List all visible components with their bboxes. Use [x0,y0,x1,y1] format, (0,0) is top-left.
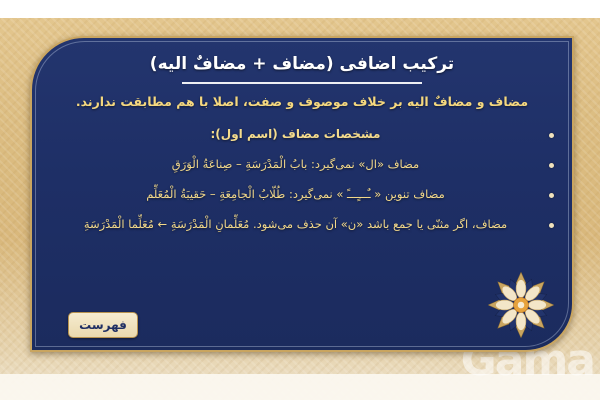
list-item: مضاف «ال» نمی‌گیرد: بابُ الْمَدْرَسَةِ –… [50,156,554,173]
bullet-dot-icon [549,133,554,138]
index-button-label: فهرست [79,318,127,332]
bullet-list: مشخصات مضاف (اسم اول): مضاف «ال» نمی‌گیر… [50,126,554,245]
slide-title: ترکیب اضافی (مضاف + مضافٌ الیه) [32,54,572,74]
top-white-band [0,0,600,18]
index-button[interactable]: فهرست [68,312,138,338]
bullet-dot-icon [549,163,554,168]
list-item: مضاف، اگر مثنّی یا جمع باشد «ن» آن حذف م… [50,216,554,233]
bullet-dot-icon [549,223,554,228]
bullet-text: مضاف، اگر مثنّی یا جمع باشد «ن» آن حذف م… [50,216,541,233]
bullet-text: مشخصات مضاف (اسم اول): [50,126,541,143]
slide-canvas: Gama ترکیب اضافی (مضاف + مضافٌ الیه) مضا… [0,0,600,400]
list-item: مضاف تنوین « ـٌـــٍـــً » نمی‌گیرد: طُلّ… [50,186,554,203]
panel-content: ترکیب اضافی (مضاف + مضافٌ الیه) مضاف و م… [32,38,572,350]
bullet-text: مضاف «ال» نمی‌گیرد: بابُ الْمَدْرَسَةِ –… [50,156,541,173]
bullet-text: مضاف تنوین « ـٌـــٍـــً » نمی‌گیرد: طُلّ… [50,186,541,203]
floral-medallion-icon [480,264,562,346]
list-item: مشخصات مضاف (اسم اول): [50,126,554,143]
slide-subtitle: مضاف و مضافٌ الیه بر خلاف موصوف و صفت، ا… [32,94,572,109]
content-panel: ترکیب اضافی (مضاف + مضافٌ الیه) مضاف و م… [30,36,574,352]
bullet-dot-icon [549,193,554,198]
bottom-white-band [0,374,600,400]
title-underline [182,82,422,84]
